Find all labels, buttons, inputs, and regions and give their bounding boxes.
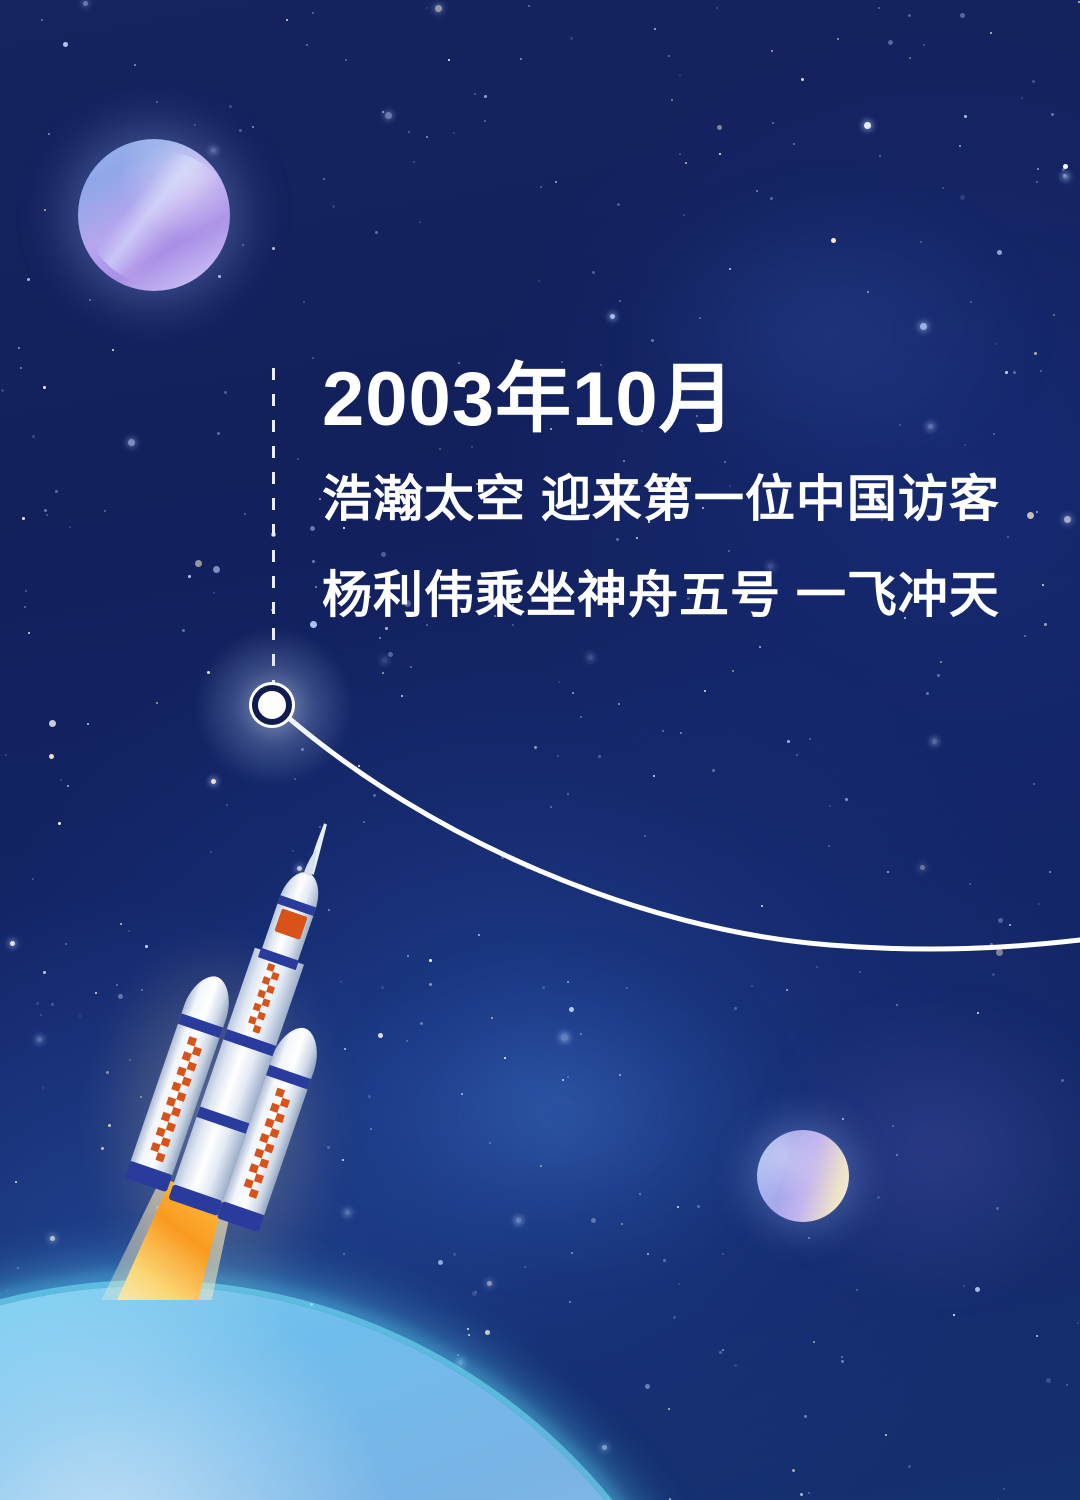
star bbox=[908, 14, 911, 17]
star bbox=[816, 966, 818, 968]
star bbox=[923, 44, 925, 46]
star bbox=[909, 57, 911, 59]
star bbox=[310, 621, 317, 628]
star bbox=[673, 1316, 676, 1319]
star bbox=[213, 592, 215, 594]
star bbox=[128, 439, 135, 446]
star bbox=[426, 624, 428, 626]
star bbox=[977, 1012, 979, 1014]
star bbox=[323, 178, 325, 180]
star bbox=[239, 129, 242, 132]
star bbox=[1063, 164, 1068, 169]
star bbox=[964, 115, 967, 118]
star bbox=[567, 981, 569, 983]
star bbox=[1064, 516, 1071, 523]
star bbox=[668, 55, 670, 57]
star bbox=[49, 720, 56, 727]
star bbox=[484, 95, 487, 98]
star bbox=[332, 205, 335, 208]
star bbox=[1078, 1, 1080, 3]
star bbox=[699, 317, 701, 319]
star bbox=[32, 878, 34, 880]
star bbox=[24, 606, 26, 608]
star bbox=[975, 1287, 980, 1292]
star bbox=[468, 1334, 470, 1336]
star bbox=[252, 126, 254, 128]
star bbox=[969, 883, 971, 885]
star bbox=[998, 918, 1003, 923]
star bbox=[645, 1384, 650, 1389]
star bbox=[570, 37, 573, 40]
star bbox=[992, 973, 995, 976]
star bbox=[997, 250, 1002, 255]
star bbox=[756, 190, 758, 192]
star bbox=[856, 1289, 858, 1291]
star bbox=[621, 1223, 623, 1225]
poster-canvas: 2003年10月 浩瀚太空 迎来第一位中国访客 杨利伟乘坐神舟五号 一飞冲天 bbox=[0, 0, 1080, 1500]
star bbox=[435, 5, 442, 12]
star bbox=[538, 280, 540, 282]
star bbox=[831, 238, 836, 243]
star bbox=[17, 1267, 19, 1269]
star bbox=[426, 7, 428, 9]
star bbox=[194, 124, 196, 126]
star bbox=[878, 7, 880, 9]
star bbox=[58, 822, 61, 825]
star bbox=[679, 153, 681, 155]
star bbox=[1033, 783, 1035, 785]
star bbox=[104, 510, 106, 512]
star bbox=[647, 1253, 649, 1255]
purple-planet bbox=[78, 139, 230, 291]
star bbox=[89, 299, 91, 301]
star bbox=[567, 1076, 569, 1078]
star bbox=[303, 301, 305, 303]
star bbox=[801, 78, 804, 81]
star bbox=[474, 93, 476, 95]
star bbox=[491, 1017, 493, 1019]
star bbox=[562, 1079, 564, 1081]
star bbox=[940, 661, 942, 663]
star bbox=[896, 1004, 898, 1006]
star bbox=[787, 740, 790, 743]
star bbox=[388, 652, 393, 657]
star bbox=[229, 105, 232, 108]
subtitle-line-2: 杨利伟乘坐神舟五号 一飞冲天 bbox=[322, 570, 1042, 620]
long-march-rocket bbox=[95, 800, 395, 1300]
star bbox=[959, 145, 961, 147]
star bbox=[55, 490, 58, 493]
star bbox=[1037, 168, 1039, 170]
star bbox=[867, 291, 869, 293]
star bbox=[1, 389, 4, 392]
star bbox=[358, 765, 360, 767]
star bbox=[1034, 352, 1037, 355]
star bbox=[679, 74, 681, 76]
star bbox=[841, 1360, 844, 1363]
star bbox=[960, 13, 965, 18]
star bbox=[732, 670, 734, 672]
star bbox=[36, 1002, 39, 1005]
star bbox=[990, 943, 993, 946]
star bbox=[772, 122, 774, 124]
blue-cream-planet bbox=[757, 1130, 849, 1222]
star bbox=[920, 241, 922, 243]
page-title-date: 2003年10月 bbox=[322, 362, 1042, 438]
star bbox=[32, 435, 35, 438]
star bbox=[561, 1034, 568, 1041]
star bbox=[385, 627, 388, 630]
star bbox=[516, 1218, 521, 1223]
star bbox=[25, 590, 27, 592]
star bbox=[557, 755, 559, 757]
star bbox=[663, 1259, 666, 1262]
star bbox=[373, 794, 376, 797]
star bbox=[484, 120, 486, 122]
star bbox=[312, 12, 314, 14]
star bbox=[996, 949, 1003, 956]
star bbox=[828, 845, 830, 847]
star bbox=[580, 1033, 582, 1035]
star bbox=[15, 1181, 17, 1183]
star bbox=[43, 386, 46, 389]
star bbox=[27, 278, 30, 281]
star bbox=[1049, 871, 1051, 873]
star bbox=[617, 203, 620, 206]
star bbox=[1024, 635, 1026, 637]
star bbox=[375, 231, 378, 234]
timeline-node-marker bbox=[252, 685, 292, 725]
star bbox=[651, 339, 654, 342]
star bbox=[112, 349, 114, 351]
star bbox=[770, 197, 773, 200]
star bbox=[719, 153, 721, 155]
star bbox=[619, 300, 621, 302]
star bbox=[800, 1493, 803, 1496]
star bbox=[995, 343, 997, 345]
star bbox=[920, 865, 925, 870]
star bbox=[892, 1125, 894, 1127]
star bbox=[310, 526, 315, 531]
star bbox=[18, 347, 20, 349]
star bbox=[526, 867, 528, 869]
star bbox=[592, 271, 595, 274]
star bbox=[813, 1341, 815, 1343]
star bbox=[182, 629, 185, 632]
star bbox=[49, 754, 54, 759]
star bbox=[87, 723, 89, 725]
star bbox=[953, 1314, 955, 1316]
star bbox=[887, 871, 889, 873]
star bbox=[996, 1207, 999, 1210]
star bbox=[771, 50, 773, 52]
star bbox=[877, 1196, 880, 1199]
star bbox=[1062, 168, 1065, 171]
star bbox=[842, 1118, 844, 1120]
star bbox=[244, 513, 246, 515]
star bbox=[213, 566, 220, 573]
star bbox=[1032, 80, 1035, 83]
star bbox=[385, 112, 392, 119]
star bbox=[475, 1291, 477, 1293]
star bbox=[591, 1218, 596, 1223]
star bbox=[382, 111, 384, 113]
star bbox=[644, 835, 646, 837]
star bbox=[22, 517, 25, 520]
star bbox=[610, 314, 615, 319]
headline-block: 2003年10月 浩瀚太空 迎来第一位中国访客 杨利伟乘坐神舟五号 一飞冲天 bbox=[322, 362, 1042, 620]
star bbox=[10, 941, 15, 946]
star bbox=[550, 806, 552, 808]
star bbox=[653, 775, 655, 777]
star bbox=[217, 432, 220, 435]
star bbox=[668, 1408, 670, 1410]
star bbox=[588, 655, 593, 660]
star bbox=[272, 247, 275, 250]
star bbox=[841, 1356, 843, 1358]
star bbox=[408, 131, 410, 133]
star bbox=[224, 391, 227, 394]
star bbox=[211, 148, 216, 153]
star bbox=[888, 40, 893, 45]
star bbox=[1053, 314, 1055, 316]
star bbox=[864, 122, 871, 129]
star bbox=[963, 1285, 965, 1287]
star bbox=[618, 703, 620, 705]
star bbox=[315, 586, 317, 588]
star bbox=[69, 526, 71, 528]
star bbox=[540, 186, 542, 188]
star bbox=[1036, 181, 1038, 183]
star bbox=[804, 1415, 807, 1418]
star bbox=[572, 692, 574, 694]
star bbox=[1066, 1384, 1068, 1386]
star bbox=[837, 38, 839, 40]
star bbox=[569, 1007, 574, 1012]
star bbox=[716, 7, 718, 9]
subtitle-line-1: 浩瀚太空 迎来第一位中国访客 bbox=[322, 474, 1042, 524]
star bbox=[662, 730, 664, 732]
star bbox=[534, 746, 537, 749]
